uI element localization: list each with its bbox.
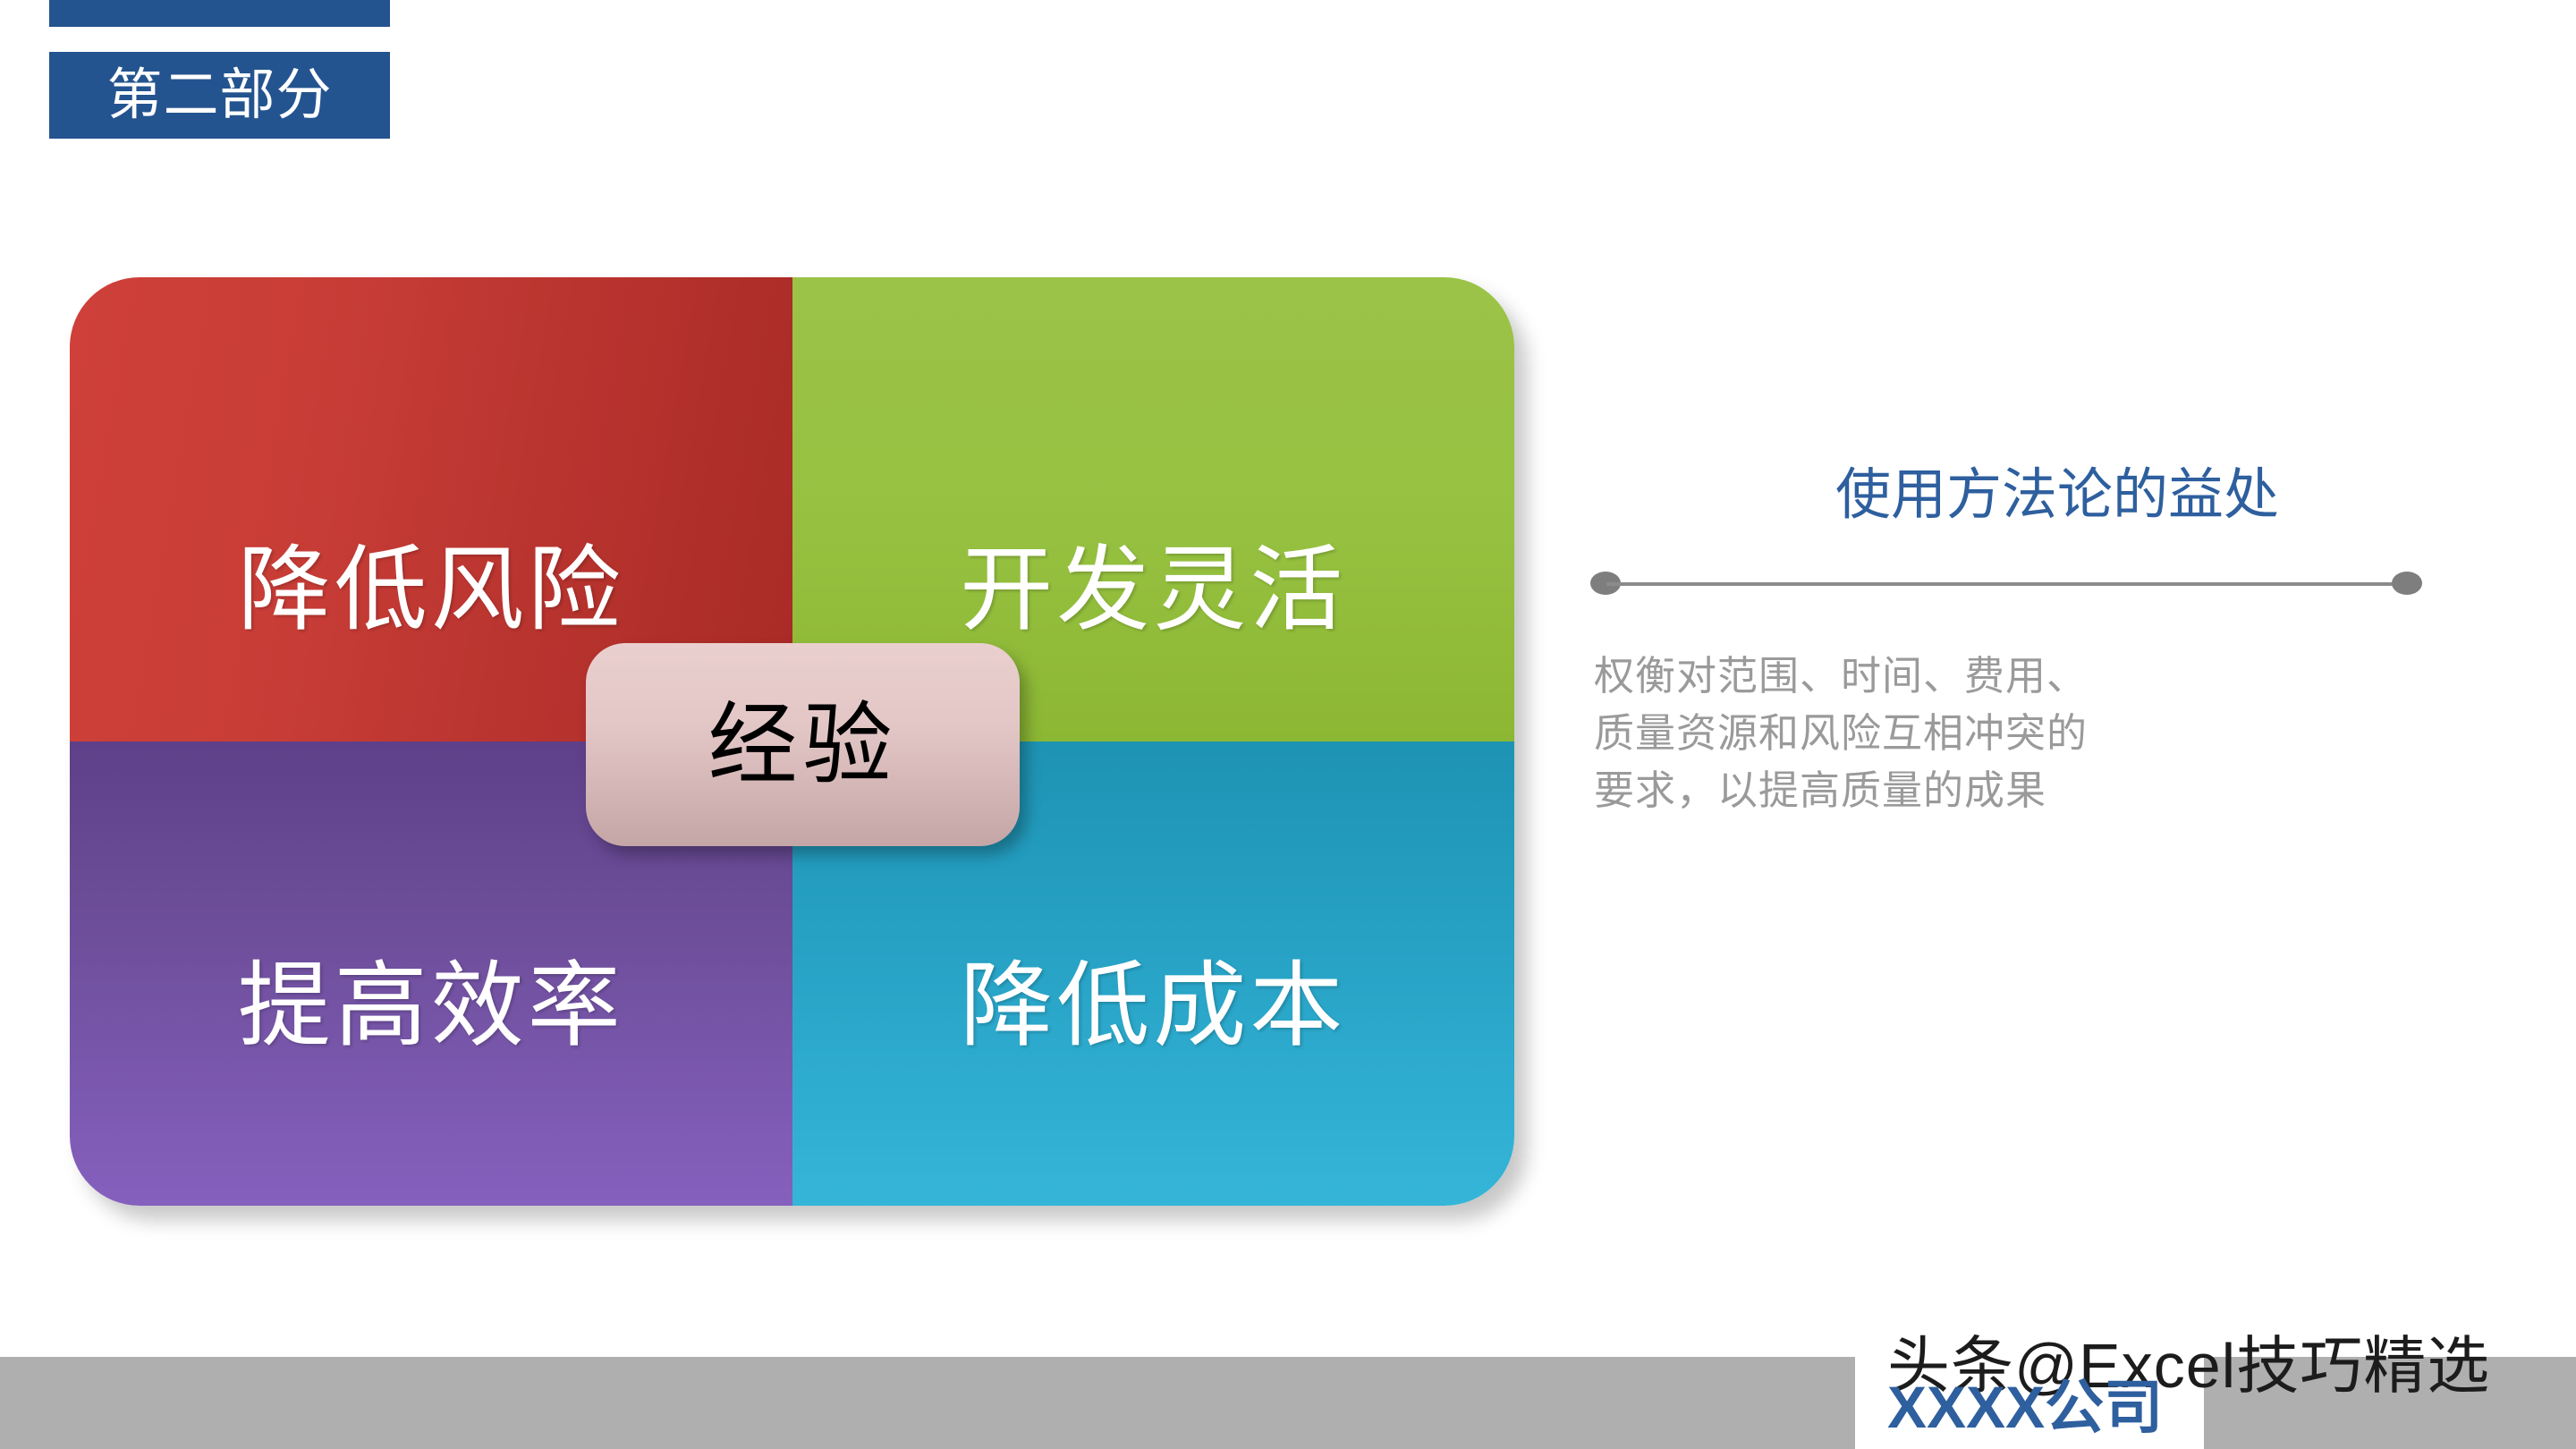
center-badge[interactable]: 经验 <box>586 643 1020 846</box>
divider-line <box>1606 582 2406 586</box>
panel-body-text: 权衡对范围、时间、费用、 质量资源和风险互相冲突的 要求，以提高质量的成果 <box>1594 648 2522 819</box>
quadrant-label-top-left: 降低风险 <box>238 543 624 741</box>
center-badge-label: 经验 <box>708 700 898 790</box>
quadrant-label-bottom-left: 提高效率 <box>238 959 624 1206</box>
footer-company-name: XXXX公司 <box>1887 1377 2163 1436</box>
quadrant-label-bottom-right: 降低成本 <box>960 959 1346 1206</box>
section-tag-label: 第二部分 <box>106 68 332 123</box>
slide-canvas: 第二部分 降低风险 开发灵活 提高效率 降低成本 经验 使用方法论的益处 权衡对… <box>0 0 2576 1449</box>
section-tag: 第二部分 <box>49 52 390 139</box>
panel-divider <box>1590 565 2422 601</box>
header-accent-bar <box>49 0 390 27</box>
divider-dot-right-icon <box>2392 572 2422 595</box>
panel-title: 使用方法论的益处 <box>1592 465 2522 526</box>
right-panel: 使用方法论的益处 权衡对范围、时间、费用、 质量资源和风险互相冲突的 要求，以提… <box>1574 465 2522 819</box>
